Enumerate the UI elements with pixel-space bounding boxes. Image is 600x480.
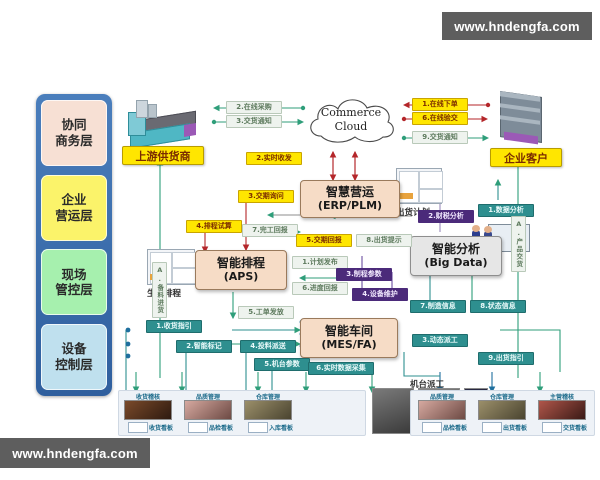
strip-label-quality-management-right: 品质管理 xyxy=(418,392,466,401)
flow-label: 9.出货指引 xyxy=(488,355,524,362)
flow-process-params[interactable]: 3.制程参数 xyxy=(336,268,392,281)
flow-label: 1.在线下单 xyxy=(422,101,458,108)
flow-label: 6.在线验交 xyxy=(422,115,458,122)
photo-receiving-audit xyxy=(124,400,172,420)
box-mes-line2: (MES/FA) xyxy=(321,339,376,352)
flow-label: 8.出货提示 xyxy=(366,237,402,244)
flow-label: 3.交货通知 xyxy=(236,118,272,125)
photo-quality-management-right xyxy=(418,400,466,420)
flow-due-date-reply[interactable]: 5.交期回报 xyxy=(296,234,352,247)
strip-label-warehouse-management-right: 仓库管理 xyxy=(478,392,526,401)
board-receiving-audit xyxy=(128,422,148,433)
flow-label: 9.交货通知 xyxy=(422,134,458,141)
layer-label-line1: 现场 xyxy=(61,267,86,283)
flow-progress-report[interactable]: 6.进度回报 xyxy=(292,282,348,295)
actor-supplier-label: 上游供货商 xyxy=(136,148,191,164)
box-aps-line2: (APS) xyxy=(224,271,259,284)
machine-photo-1 xyxy=(372,388,414,434)
flow-label: 2.智能标记 xyxy=(186,343,222,350)
flow-material-dispatch[interactable]: 4.投料派送 xyxy=(240,340,296,353)
board-label-quality-management-right: 品检看板 xyxy=(442,423,468,432)
flow-data-analysis[interactable]: 1.数据分析 xyxy=(478,204,534,217)
cloud-text: Commerce Cloud xyxy=(305,106,397,134)
box-erp-line2: (ERP/PLM) xyxy=(318,200,382,213)
flow-label: 5.机台参数 xyxy=(264,361,300,368)
photo-warehouse-management-left xyxy=(244,400,292,420)
flow-label: 1.数据分析 xyxy=(488,207,524,214)
flow-label: 1.收货指引 xyxy=(156,323,192,330)
flow-material-inbound[interactable]: A.备料进货 xyxy=(152,262,167,318)
box-mes-fa[interactable]: 智能车间 (MES/FA) xyxy=(300,318,398,358)
layer-label-line2: 控制层 xyxy=(55,357,93,373)
flow-label: 5.交期回报 xyxy=(306,237,342,244)
actor-supplier[interactable]: 上游供货商 xyxy=(122,146,204,165)
layer-label-line1: 设备 xyxy=(61,341,86,357)
layer-label-line1: 企业 xyxy=(61,192,86,208)
photo-warehouse-management-right xyxy=(478,400,526,420)
flow-dynamic-dispatch[interactable]: 3.动态派工 xyxy=(412,334,468,347)
flow-work-complete-report[interactable]: 7.完工回报 xyxy=(242,224,298,237)
flow-machine-params[interactable]: 5.机台参数 xyxy=(254,358,310,371)
flow-label: A.产品交货 xyxy=(515,220,522,268)
flow-label: 3.动态派工 xyxy=(422,337,458,344)
box-erp-plm[interactable]: 智慧营运 (ERP/PLM) xyxy=(300,180,400,218)
flow-label: 4.排程试算 xyxy=(196,223,232,230)
flow-label: 5.工单发放 xyxy=(248,309,284,316)
flow-label: 6.进度回报 xyxy=(302,285,338,292)
flow-workorder-release[interactable]: 5.工单发放 xyxy=(238,306,294,319)
layer-rail: 协同 商务层 企业 营运层 现场 管控层 设备 控制层 xyxy=(36,94,112,396)
sidebar-item-enterprise-operations[interactable]: 企业 营运层 xyxy=(41,175,107,241)
flow-label: A.备料进货 xyxy=(156,266,163,314)
flow-label: 7.完工回报 xyxy=(252,227,288,234)
flow-online-order[interactable]: 1.在线下单 xyxy=(412,98,468,111)
board-warehouse-management-right xyxy=(482,422,502,433)
strip-label-quality-management-left: 品质管理 xyxy=(184,392,232,401)
board-label-warehouse-management-left: 入库看板 xyxy=(268,423,294,432)
flow-product-delivery[interactable]: A.产品交货 xyxy=(511,216,526,272)
erp-monitor-illustration xyxy=(396,168,442,204)
flow-label: 3.交期询问 xyxy=(248,193,284,200)
layer-label-line2: 营运层 xyxy=(55,208,93,224)
flow-label: 6.实时数据采集 xyxy=(316,365,366,372)
box-erp-line1: 智慧营运 xyxy=(326,186,374,200)
board-main-operation-audit xyxy=(542,422,562,433)
cloud-line1: Commerce xyxy=(305,106,397,120)
board-quality-management-right xyxy=(422,422,442,433)
strip-label-receiving-audit: 收货稽核 xyxy=(124,392,172,401)
commerce-cloud[interactable]: Commerce Cloud xyxy=(305,92,397,150)
flow-label: 4.设备维护 xyxy=(362,291,398,298)
photo-quality-management-left xyxy=(184,400,232,420)
box-bigdata-line2: (Big Data) xyxy=(424,257,487,270)
flow-label: 1.计划发布 xyxy=(302,259,338,266)
flow-label: 2.在线采购 xyxy=(236,104,272,111)
board-label-receiving-audit: 收货看板 xyxy=(148,423,174,432)
flow-finance-tax-analysis[interactable]: 2.财税分析 xyxy=(418,210,474,223)
supplier-factory-illustration xyxy=(122,94,202,146)
flow-label: 8.状态信息 xyxy=(480,303,516,310)
layer-label-line2: 管控层 xyxy=(55,282,93,298)
diagram-canvas: 协同 商务层 企业 营运层 现场 管控层 设备 控制层 上游供货商 xyxy=(0,0,600,480)
flow-realtime-data-collect[interactable]: 6.实时数据采集 xyxy=(308,362,374,375)
flow-label: 2.实时收发 xyxy=(256,155,292,162)
sidebar-item-equipment-control[interactable]: 设备 控制层 xyxy=(41,324,107,390)
board-label-quality-management-left: 品检看板 xyxy=(208,423,234,432)
watermark-top: www.hndengfa.com xyxy=(442,12,592,40)
flow-status-info[interactable]: 8.状态信息 xyxy=(470,300,526,313)
customer-building-illustration xyxy=(494,90,552,148)
board-label-warehouse-management-right: 出货看板 xyxy=(502,423,528,432)
flow-online-purchase[interactable]: 2.在线采购 xyxy=(226,101,282,114)
flow-label: 4.投料派送 xyxy=(250,343,286,350)
flow-label: 3.制程参数 xyxy=(346,271,382,278)
flow-shipping-instruction[interactable]: 8.出货提示 xyxy=(356,234,412,247)
strip-label-main-operation-audit: 主营稽核 xyxy=(538,392,586,401)
flow-label: 2.财税分析 xyxy=(428,213,464,220)
layer-label-line1: 协同 xyxy=(61,117,86,133)
flow-receiving-guide[interactable]: 1.收货指引 xyxy=(146,320,202,333)
box-mes-line1: 智能车间 xyxy=(325,325,373,339)
cloud-line2: Cloud xyxy=(305,120,397,134)
box-bigdata-line1: 智能分析 xyxy=(432,243,480,257)
box-aps-line1: 智能排程 xyxy=(217,257,265,271)
flow-schedule-trial[interactable]: 4.排程试算 xyxy=(186,220,242,233)
flow-delivery-notice-customer[interactable]: 9.交货通知 xyxy=(412,131,468,144)
flow-manufacturing-info[interactable]: 7.制造信息 xyxy=(410,300,466,313)
strip-label-warehouse-management-left: 仓库管理 xyxy=(244,392,292,401)
flow-shipping-guide[interactable]: 9.出货指引 xyxy=(478,352,534,365)
flow-smart-marking[interactable]: 2.智能标记 xyxy=(176,340,232,353)
flow-equipment-maintain[interactable]: 4.设备维护 xyxy=(352,288,408,301)
flow-delivery-notice-supplier[interactable]: 3.交货通知 xyxy=(226,115,282,128)
layer-label-line2: 商务层 xyxy=(55,133,93,149)
box-big-data[interactable]: 智能分析 (Big Data) xyxy=(410,236,502,276)
sidebar-item-collaborative-commerce[interactable]: 协同 商务层 xyxy=(41,100,107,166)
actor-customer[interactable]: 企业客户 xyxy=(490,148,562,167)
flow-realtime-receipt[interactable]: 2.实时收发 xyxy=(246,152,302,165)
box-aps[interactable]: 智能排程 (APS) xyxy=(195,250,287,290)
flow-label: 7.制造信息 xyxy=(420,303,456,310)
photo-main-operation-audit xyxy=(538,400,586,420)
board-label-main-operation-audit: 交货看板 xyxy=(562,423,588,432)
board-warehouse-management-left xyxy=(248,422,268,433)
flow-due-date-inquiry[interactable]: 3.交期询问 xyxy=(238,190,294,203)
watermark-bottom: www.hndengfa.com xyxy=(0,438,150,468)
flow-online-accept[interactable]: 6.在线验交 xyxy=(412,112,468,125)
board-quality-management-left xyxy=(188,422,208,433)
actor-customer-label: 企业客户 xyxy=(504,150,548,166)
sidebar-item-shopfloor-control[interactable]: 现场 管控层 xyxy=(41,249,107,315)
